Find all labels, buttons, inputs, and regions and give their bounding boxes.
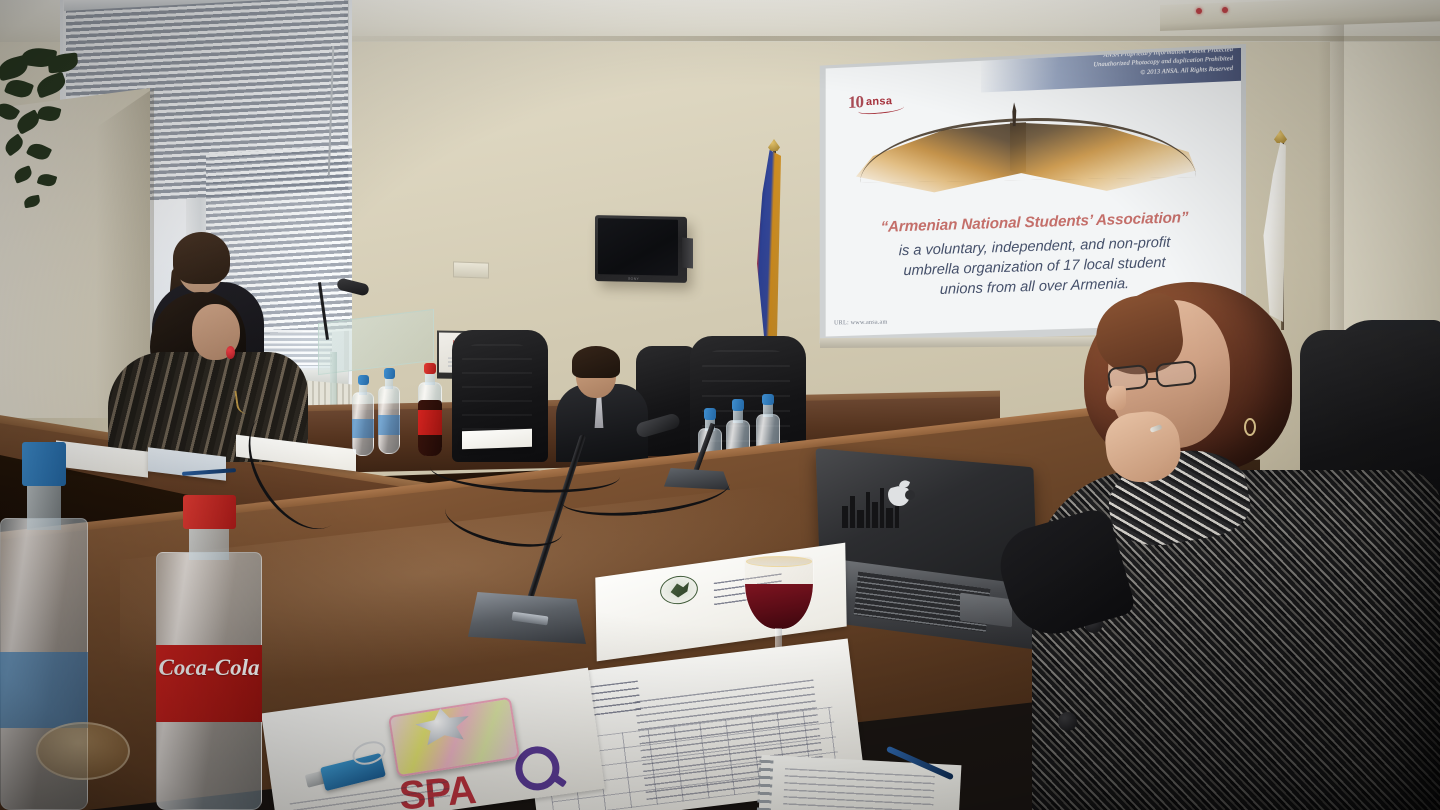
housing-indicator-led: [1222, 7, 1228, 13]
bottle-cap-blue: [732, 399, 744, 411]
espaq-q-icon: [514, 745, 562, 793]
bottle-label: [378, 415, 400, 435]
glass-bowl-foreground: [36, 722, 130, 780]
wine-liquid: [745, 584, 813, 629]
apple-logo-bite: [905, 490, 915, 500]
hanging-plant-icon: [0, 18, 124, 218]
slide-eagle-mountain-illustration: [850, 99, 1210, 213]
coat-button: [1058, 712, 1077, 731]
bottle-cap-blue: [22, 442, 66, 486]
apple-logo-icon: [888, 480, 910, 506]
bottle-label: [0, 652, 88, 728]
bottle-cap-red: [424, 363, 436, 374]
notepad-spiral-binding: [756, 760, 773, 810]
paper-sheet: [462, 429, 532, 449]
illustration-arc: [860, 115, 1196, 183]
coca-cola-bottle-far[interactable]: [418, 382, 442, 456]
coca-cola-wordmark: Coca-Cola: [156, 655, 262, 681]
standing-woman-hair: [173, 232, 230, 284]
wall-outlet-plate: [453, 261, 489, 278]
housing-indicator-led: [1196, 8, 1202, 14]
bottle-cap-blue: [358, 375, 369, 385]
coca-cola-bottle-foreground[interactable]: Coca-Cola: [156, 552, 262, 810]
foreground-woman-nose: [1106, 386, 1126, 410]
ceiling-edge: [300, 36, 1440, 41]
foreground-woman-earring: [1244, 418, 1256, 436]
bottle-label-coke: [418, 410, 442, 435]
young-man-hair: [572, 346, 620, 378]
eyeglasses-bridge: [1148, 378, 1158, 380]
bottle-cap-blue: [762, 394, 774, 406]
bottle-neck: [189, 524, 229, 560]
espaq-q-tail-icon: [550, 773, 567, 788]
water-bottle[interactable]: [352, 392, 374, 456]
tv-wall-mount: [682, 238, 693, 269]
wine-glass-bowl: [744, 556, 814, 630]
slide-footer-url: URL: www.ansa.am: [834, 319, 888, 327]
bottle-neck: [763, 403, 772, 417]
wall-mounted-tv: SONY: [595, 215, 687, 283]
bottle-cap-red: [183, 495, 236, 529]
bottle-cap-blue: [384, 368, 395, 378]
notepad-lines: [783, 768, 935, 810]
bottle-label: [352, 419, 374, 438]
tv-brand-label: SONY: [628, 276, 639, 280]
conference-room-photo: ANSA Proprietary Information. Patent Pro…: [0, 0, 1440, 810]
tv-screen: [598, 218, 678, 276]
seated-woman-earring: [226, 346, 235, 359]
wine-glass-gold-rim: [746, 556, 812, 567]
bottle-cap-blue: [704, 408, 716, 419]
water-bottle[interactable]: [378, 386, 400, 454]
eyeglasses-lens-right: [1155, 360, 1197, 388]
